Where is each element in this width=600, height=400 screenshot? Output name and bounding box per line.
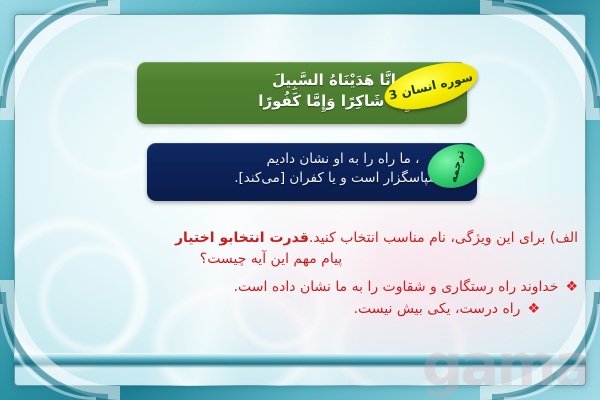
answer-bullet-list: ❖ خداوند راه رستگاری و شقاوت را به ما نش… bbox=[22, 277, 578, 320]
watermark-logo: gama bbox=[422, 336, 590, 394]
list-item-text: خداوند راه رستگاری و شقاوت را به ما نشان… bbox=[234, 277, 559, 299]
list-item-text: راه درست، یکی بیش نیست. bbox=[354, 299, 521, 321]
question-line-2: پیام مهم این آیه چیست؟ bbox=[22, 249, 578, 270]
list-item: ❖ راه درست، یکی بیش نیست. bbox=[22, 299, 578, 321]
question-block: الف) برای این ویژگی، نام مناسب انتخاب کن… bbox=[22, 228, 578, 271]
list-item: ❖ خداوند راه رستگاری و شقاوت را به ما نش… bbox=[22, 277, 578, 299]
translation-badge-label: ترجمه bbox=[446, 148, 467, 183]
diamond-bullet-icon: ❖ bbox=[565, 277, 578, 299]
question-answer-emphasis-2: و اختیار bbox=[175, 230, 228, 246]
slide-canvas: إِنَّا هَدَيْنَاهُ السَّبِيلَ إِمَّا شَا… bbox=[0, 0, 600, 400]
question-part-c: الف) برای این ویژگی، نام مناسب انتخاب کن… bbox=[309, 230, 578, 246]
question-line-1: الف) برای این ویژگی، نام مناسب انتخاب کن… bbox=[22, 228, 578, 249]
quran-verse-box: إِنَّا هَدَيْنَاهُ السَّبِيلَ إِمَّا شَا… bbox=[137, 62, 467, 124]
question-answer-emphasis: قدرت انتخاب bbox=[228, 230, 309, 246]
diamond-bullet-icon: ❖ bbox=[527, 299, 540, 321]
translation-box: ، ما راه را به او نشان دادیم یا سپاسگزار… bbox=[147, 143, 477, 201]
slide-content: إِنَّا هَدَيْنَاهُ السَّبِيلَ إِمَّا شَا… bbox=[0, 0, 600, 400]
